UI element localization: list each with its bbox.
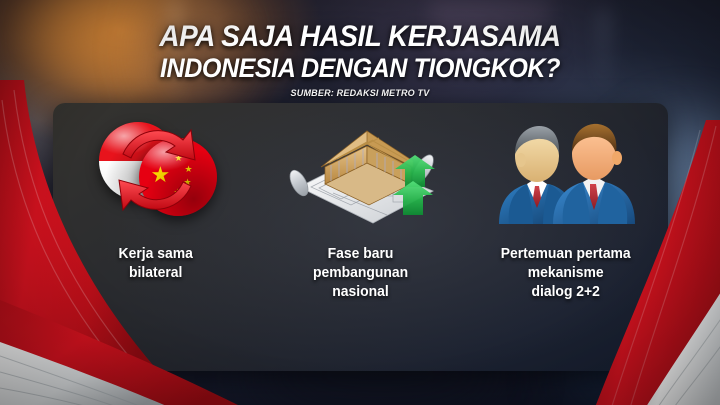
source-credit: SUMBER: REDAKSI METRO TV [18,88,702,99]
headline-block: APA SAJA HASIL KERJASAMA INDONESIA DENGA… [0,22,720,99]
star-icon: ★ [184,178,192,187]
card-bilateral: ★ ★ ★ ★ ★ [53,103,258,371]
broadcast-graphic: APA SAJA HASIL KERJASAMA INDONESIA DENGA… [0,0,720,405]
china-stars: ★ ★ ★ ★ ★ [139,138,217,216]
blueprint-svg [281,111,441,229]
star-icon: ★ [174,188,182,197]
china-flag-sphere-icon: ★ ★ ★ ★ ★ [139,138,217,216]
card-label: Pertemuan pertama mekanisme dialog 2+2 [501,245,631,302]
star-icon: ★ [175,154,183,163]
card-label: Kerja sama bilateral [118,245,192,283]
headline-line-2: INDONESIA DENGAN TIONGKOK? [25,55,695,82]
star-icon: ★ [185,165,193,174]
indonesia-china-flag-spheres-icon: ★ ★ ★ ★ ★ [95,116,217,224]
card-icon-slot: ★ ★ ★ ★ ★ [95,109,217,231]
headline-line-1: APA SAJA HASIL KERJASAMA [25,22,695,52]
cards-row: ★ ★ ★ ★ ★ [53,103,668,371]
card-dialog: Pertemuan pertama mekanisme dialog 2+2 [463,103,668,371]
businessmen-svg [491,114,641,226]
card-icon-slot [491,109,641,231]
card-label: Fase baru pembangunan nasional [313,245,408,302]
card-pembangunan: Fase baru pembangunan nasional [258,103,463,371]
star-icon: ★ [151,164,171,186]
businessman-right [553,124,635,224]
two-businessmen-icon [491,114,641,226]
house-blueprint-growth-icon [281,111,441,229]
card-icon-slot [281,109,441,231]
